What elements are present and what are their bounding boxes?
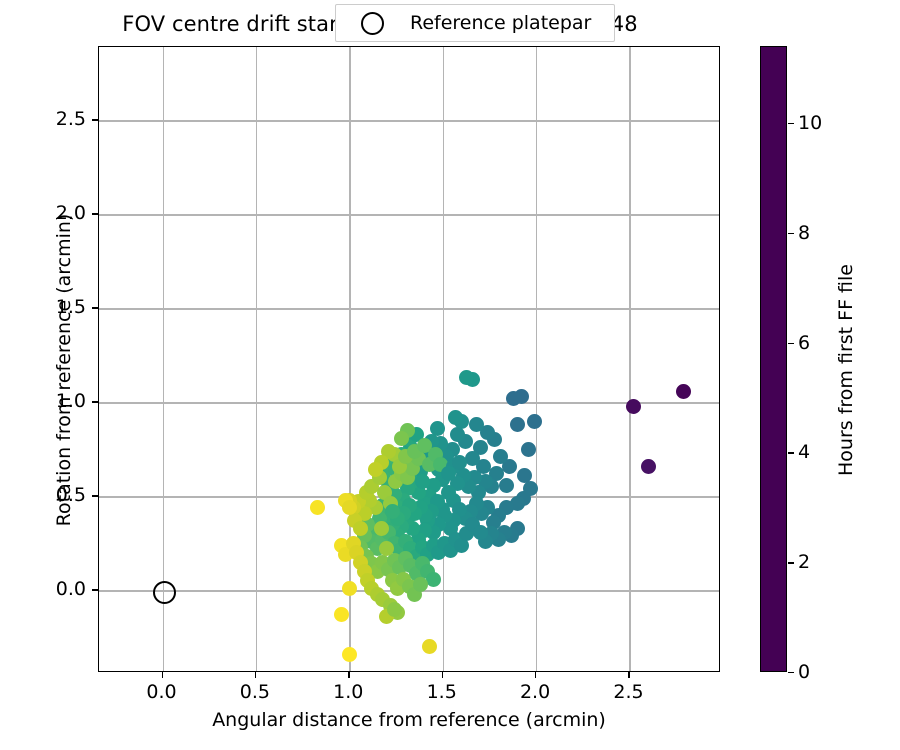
colorbar-tick-label: 10 — [798, 112, 822, 134]
y-tick — [92, 495, 98, 496]
x-tick — [255, 672, 256, 678]
reference-platepar-marker-icon — [361, 12, 384, 35]
x-tick — [628, 672, 629, 678]
legend-item-label: Reference platepar — [410, 12, 591, 34]
y-tick — [92, 589, 98, 590]
y-tick — [92, 307, 98, 308]
x-tick-label: 2.0 — [520, 681, 550, 703]
colorbar-tick-label: 0 — [798, 661, 810, 683]
x-tick-label: 2.5 — [613, 681, 643, 703]
x-tick — [348, 672, 349, 678]
colorbar-tick-label: 8 — [798, 222, 810, 244]
colorbar — [760, 46, 787, 672]
x-tick — [442, 672, 443, 678]
colorbar-tick — [788, 672, 794, 673]
colorbar-tick — [788, 123, 794, 124]
reference-marker-layer — [99, 47, 719, 671]
colorbar-tick-label: 6 — [798, 332, 810, 354]
x-tick — [535, 672, 536, 678]
plot-area — [98, 46, 720, 672]
x-tick-label: 1.5 — [427, 681, 457, 703]
legend: Reference platepar — [335, 4, 615, 42]
colorbar-tick — [788, 343, 794, 344]
y-tick — [92, 119, 98, 120]
scatter-plot-figure: FOV centre drift starting at 2025/11/05 … — [0, 0, 900, 750]
y-axis-label: Rotation from reference (arcmin) — [53, 70, 75, 670]
colorbar-tick — [788, 233, 794, 234]
colorbar-tick-label: 2 — [798, 551, 810, 573]
x-tick-label: 0.0 — [146, 681, 176, 703]
colorbar-tick — [788, 562, 794, 563]
y-tick — [92, 401, 98, 402]
colorbar-tick-label: 4 — [798, 441, 810, 463]
reference-platepar-marker — [153, 581, 176, 604]
x-tick — [162, 672, 163, 678]
x-tick-label: 0.5 — [240, 681, 270, 703]
colorbar-gradient — [761, 47, 786, 671]
y-tick — [92, 213, 98, 214]
x-axis-label: Angular distance from reference (arcmin) — [98, 709, 720, 731]
colorbar-label: Hours from first FF file — [835, 70, 857, 670]
colorbar-tick — [788, 452, 794, 453]
x-tick-label: 1.0 — [333, 681, 363, 703]
